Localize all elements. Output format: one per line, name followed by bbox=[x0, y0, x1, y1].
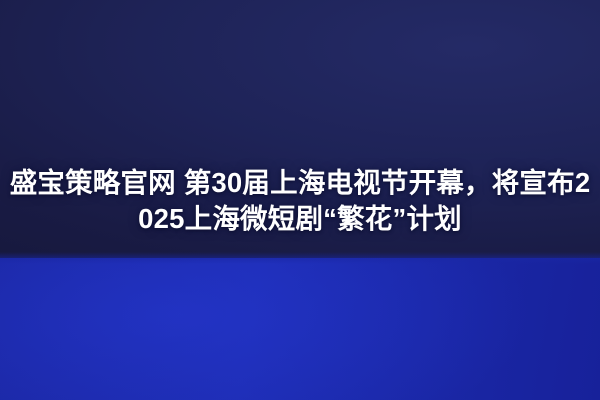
page-title: 盛宝策略官网 第30届上海电视节开幕，将宣布2025上海微短剧“繁花”计划 bbox=[6, 165, 594, 237]
headline-text: 盛宝策略官网 第30届上海电视节开幕，将宣布2025上海微短剧“繁花”计划 bbox=[10, 167, 591, 234]
banner-image: 盛宝策略官网 第30届上海电视节开幕，将宣布2025上海微短剧“繁花”计划 bbox=[0, 0, 600, 400]
